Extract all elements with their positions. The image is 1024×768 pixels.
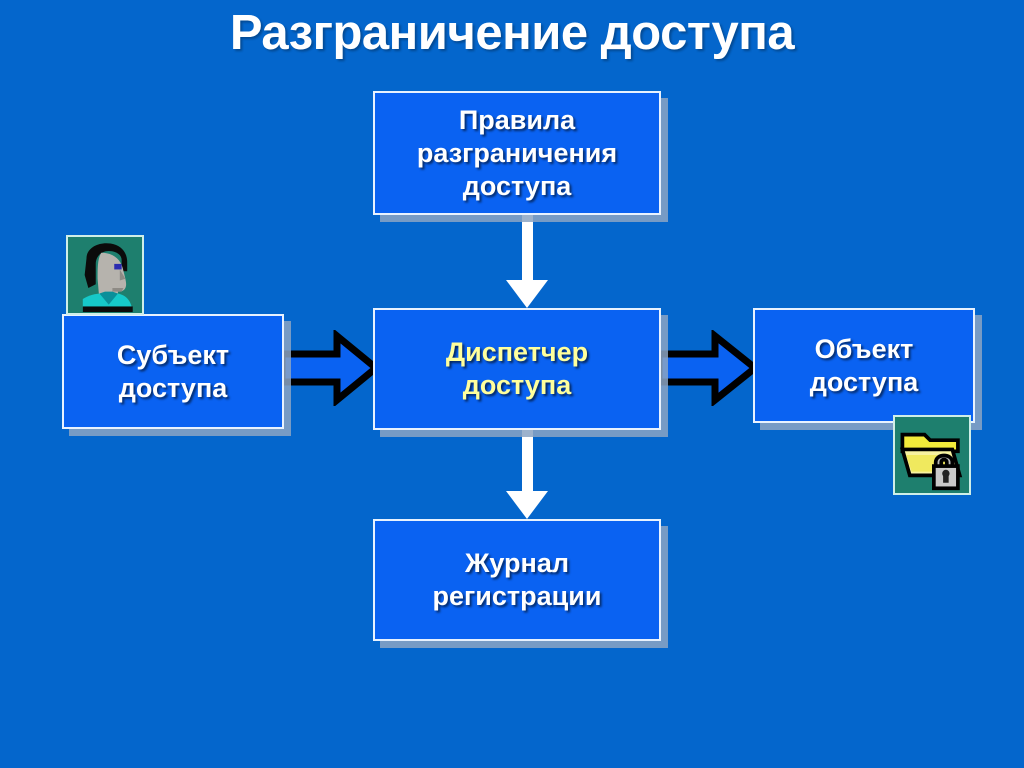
node-access-subject[interactable]: Субъект доступа [62, 314, 284, 429]
node-label: Объект доступа [802, 333, 927, 399]
folder-with-padlock-glyph [895, 417, 969, 493]
node-access-dispatcher[interactable]: Диспетчер доступа [373, 308, 661, 430]
arrow-head-down-icon [506, 491, 548, 519]
node-label: Правила разграничения доступа [409, 104, 625, 203]
connector-subject-to-dispatcher [282, 330, 378, 406]
node-access-object[interactable]: Объект доступа [753, 308, 975, 423]
node-label: Журнал регистрации [425, 547, 610, 613]
node-label: Субъект доступа [109, 339, 237, 405]
arrow-right-outline-icon [282, 330, 378, 406]
node-registration-journal[interactable]: Журнал регистрации [373, 519, 661, 641]
arrow-head-down-icon [506, 280, 548, 308]
arrow-shaft [522, 215, 533, 280]
connector-dispatcher-to-object [659, 330, 757, 406]
person-profile-glyph [68, 237, 142, 313]
node-access-rules[interactable]: Правила разграничения доступа [373, 91, 661, 215]
person-icon [66, 235, 144, 315]
connector-rules-to-dispatcher [506, 215, 548, 308]
arrow-shaft [522, 430, 533, 491]
node-label: Диспетчер доступа [438, 336, 596, 402]
arrow-right-outline-icon [659, 330, 757, 406]
locked-folder-icon [893, 415, 971, 495]
connector-dispatcher-to-journal [506, 430, 548, 519]
slide-canvas: Разграничение доступа Правила разграниче… [0, 0, 1024, 768]
page-title: Разграничение доступа [0, 4, 1024, 62]
